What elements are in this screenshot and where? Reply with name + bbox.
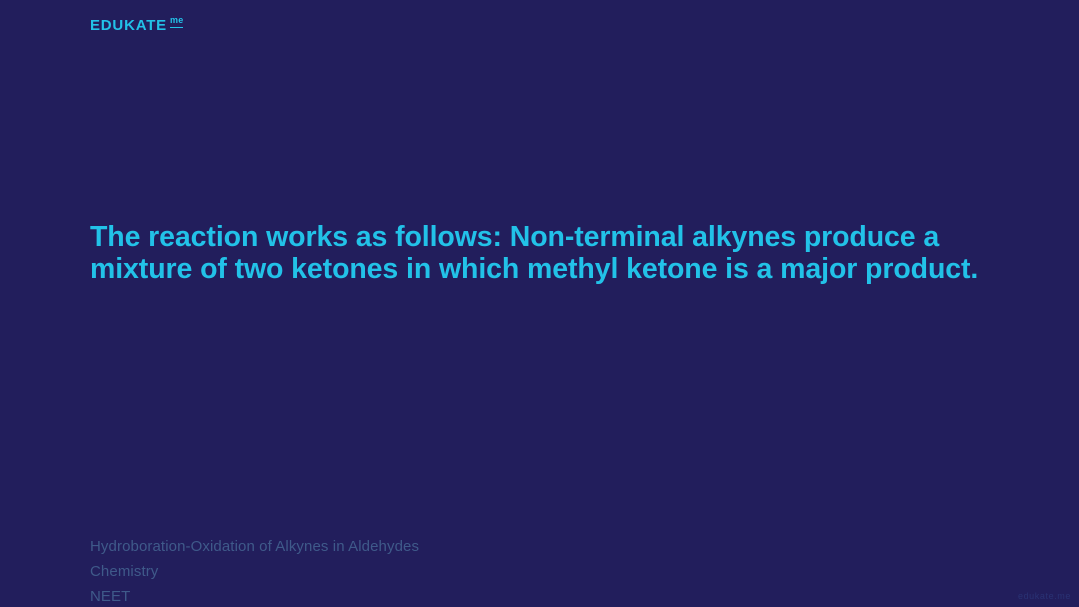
- slide-footer: Hydroboration-Oxidation of Alkynes in Al…: [90, 534, 419, 607]
- footer-topic: Hydroboration-Oxidation of Alkynes in Al…: [90, 534, 419, 559]
- brand-logo-word: EDUKATE: [90, 17, 167, 35]
- brand-logo[interactable]: EDUKATE me: [90, 17, 183, 35]
- brand-logo-superscript: me: [170, 16, 183, 28]
- headline-line-2: mixture of two ketones in which methyl k…: [90, 253, 990, 285]
- footer-exam: NEET: [90, 584, 419, 607]
- brand-logo-underline: [170, 27, 183, 29]
- slide-headline: The reaction works as follows: Non-termi…: [90, 221, 990, 285]
- headline-line-1: The reaction works as follows: Non-termi…: [90, 221, 990, 253]
- watermark: edukate.me: [1018, 591, 1071, 601]
- presentation-slide: EDUKATE me The reaction works as follows…: [0, 0, 1079, 607]
- footer-subject: Chemistry: [90, 559, 419, 584]
- brand-logo-superscript-text: me: [170, 16, 183, 25]
